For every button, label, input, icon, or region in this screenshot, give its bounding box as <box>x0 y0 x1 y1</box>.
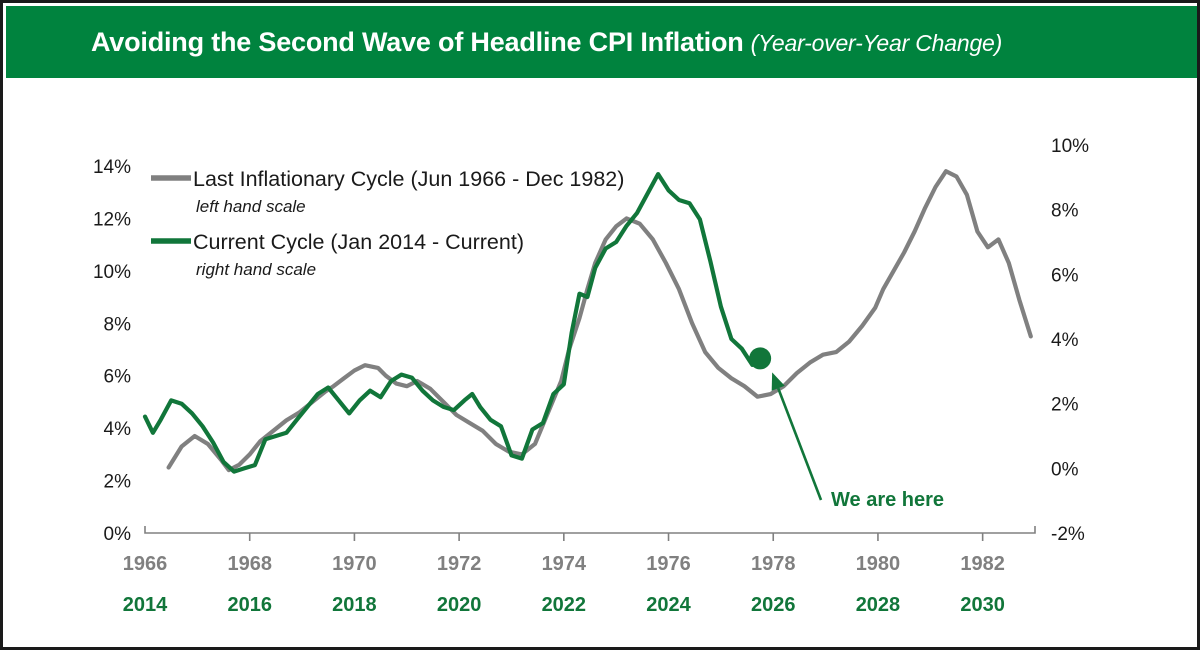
x-label-current-2028: 2028 <box>856 594 901 616</box>
x-label-historic-1980: 1980 <box>856 553 901 575</box>
right-axis-tick-10%: 10% <box>1051 136 1089 157</box>
left-axis-tick-labels: 0%2%4%6%8%10%12%14% <box>93 157 131 545</box>
current-position-dot <box>749 347 771 369</box>
left-axis-tick-12%: 12% <box>93 209 131 230</box>
right-axis-tick-4%: 4% <box>1051 330 1079 351</box>
x-axis-labels-current: 201420162018202020222024202620282030 <box>123 594 1005 616</box>
right-axis-tick--2%: -2% <box>1051 524 1085 545</box>
x-label-current-2014: 2014 <box>123 594 168 616</box>
x-label-historic-1970: 1970 <box>332 553 377 575</box>
x-label-historic-1974: 1974 <box>542 553 587 575</box>
x-label-historic-1976: 1976 <box>646 553 691 575</box>
x-axis-labels-historic: 196619681970197219741976197819801982 <box>123 553 1005 575</box>
left-axis-tick-8%: 8% <box>104 314 132 335</box>
left-axis-tick-14%: 14% <box>93 157 131 178</box>
x-label-current-2024: 2024 <box>646 594 691 616</box>
chart-title-subtitle: (Year-over-Year Change) <box>751 30 1003 56</box>
right-axis-tick-0%: 0% <box>1051 459 1079 480</box>
left-axis-tick-6%: 6% <box>104 367 132 388</box>
annotation-arrow-line <box>778 388 821 500</box>
series-line-last-inflationary-cycle <box>169 171 1031 470</box>
left-axis-tick-10%: 10% <box>93 262 131 283</box>
x-axis-tick-marks <box>250 533 983 541</box>
x-label-current-2022: 2022 <box>542 594 587 616</box>
x-label-historic-1968: 1968 <box>227 553 272 575</box>
legend-label-current: Current Cycle (Jan 2014 - Current) <box>193 230 524 254</box>
x-label-current-2030: 2030 <box>960 594 1005 616</box>
left-axis-tick-0%: 0% <box>104 524 132 545</box>
x-label-current-2016: 2016 <box>227 594 272 616</box>
legend-item-historic: Last Inflationary Cycle (Jun 1966 - Dec … <box>151 167 624 216</box>
chart-legend: Last Inflationary Cycle (Jun 1966 - Dec … <box>151 167 624 279</box>
we-are-here-annotation: We are here <box>772 372 944 511</box>
x-label-current-2018: 2018 <box>332 594 377 616</box>
x-label-historic-1982: 1982 <box>960 553 1005 575</box>
x-axis <box>145 526 1035 541</box>
x-label-historic-1966: 1966 <box>123 553 168 575</box>
x-axis-line <box>145 526 1035 533</box>
legend-sublabel-current: right hand scale <box>196 260 316 279</box>
right-axis-tick-6%: 6% <box>1051 265 1079 286</box>
annotation-label: We are here <box>831 489 944 511</box>
x-label-historic-1978: 1978 <box>751 553 796 575</box>
legend-sublabel-historic: left hand scale <box>196 197 306 216</box>
chart-plot-area: 0%2%4%6%8%10%12%14% -2%0%2%4%6%8%10% 196… <box>3 78 1197 650</box>
right-axis-tick-2%: 2% <box>1051 395 1079 416</box>
left-axis-tick-2%: 2% <box>104 472 132 493</box>
chart-title-main: Avoiding the Second Wave of Headline CPI… <box>91 27 744 57</box>
legend-label-historic: Last Inflationary Cycle (Jun 1966 - Dec … <box>193 167 624 191</box>
series-line-current-cycle <box>145 174 760 472</box>
chart-figure: Avoiding the Second Wave of Headline CPI… <box>0 0 1200 650</box>
chart-header-bar: Avoiding the Second Wave of Headline CPI… <box>6 6 1200 78</box>
left-axis-tick-4%: 4% <box>104 419 132 440</box>
x-label-current-2026: 2026 <box>751 594 796 616</box>
right-axis-tick-8%: 8% <box>1051 201 1079 222</box>
x-label-current-2020: 2020 <box>437 594 482 616</box>
legend-item-current: Current Cycle (Jan 2014 - Current) right… <box>151 230 524 279</box>
chart-svg: 0%2%4%6%8%10%12%14% -2%0%2%4%6%8%10% 196… <box>3 78 1197 650</box>
chart-title: Avoiding the Second Wave of Headline CPI… <box>91 27 1002 58</box>
x-label-historic-1972: 1972 <box>437 553 482 575</box>
right-axis-tick-labels: -2%0%2%4%6%8%10% <box>1051 136 1089 545</box>
